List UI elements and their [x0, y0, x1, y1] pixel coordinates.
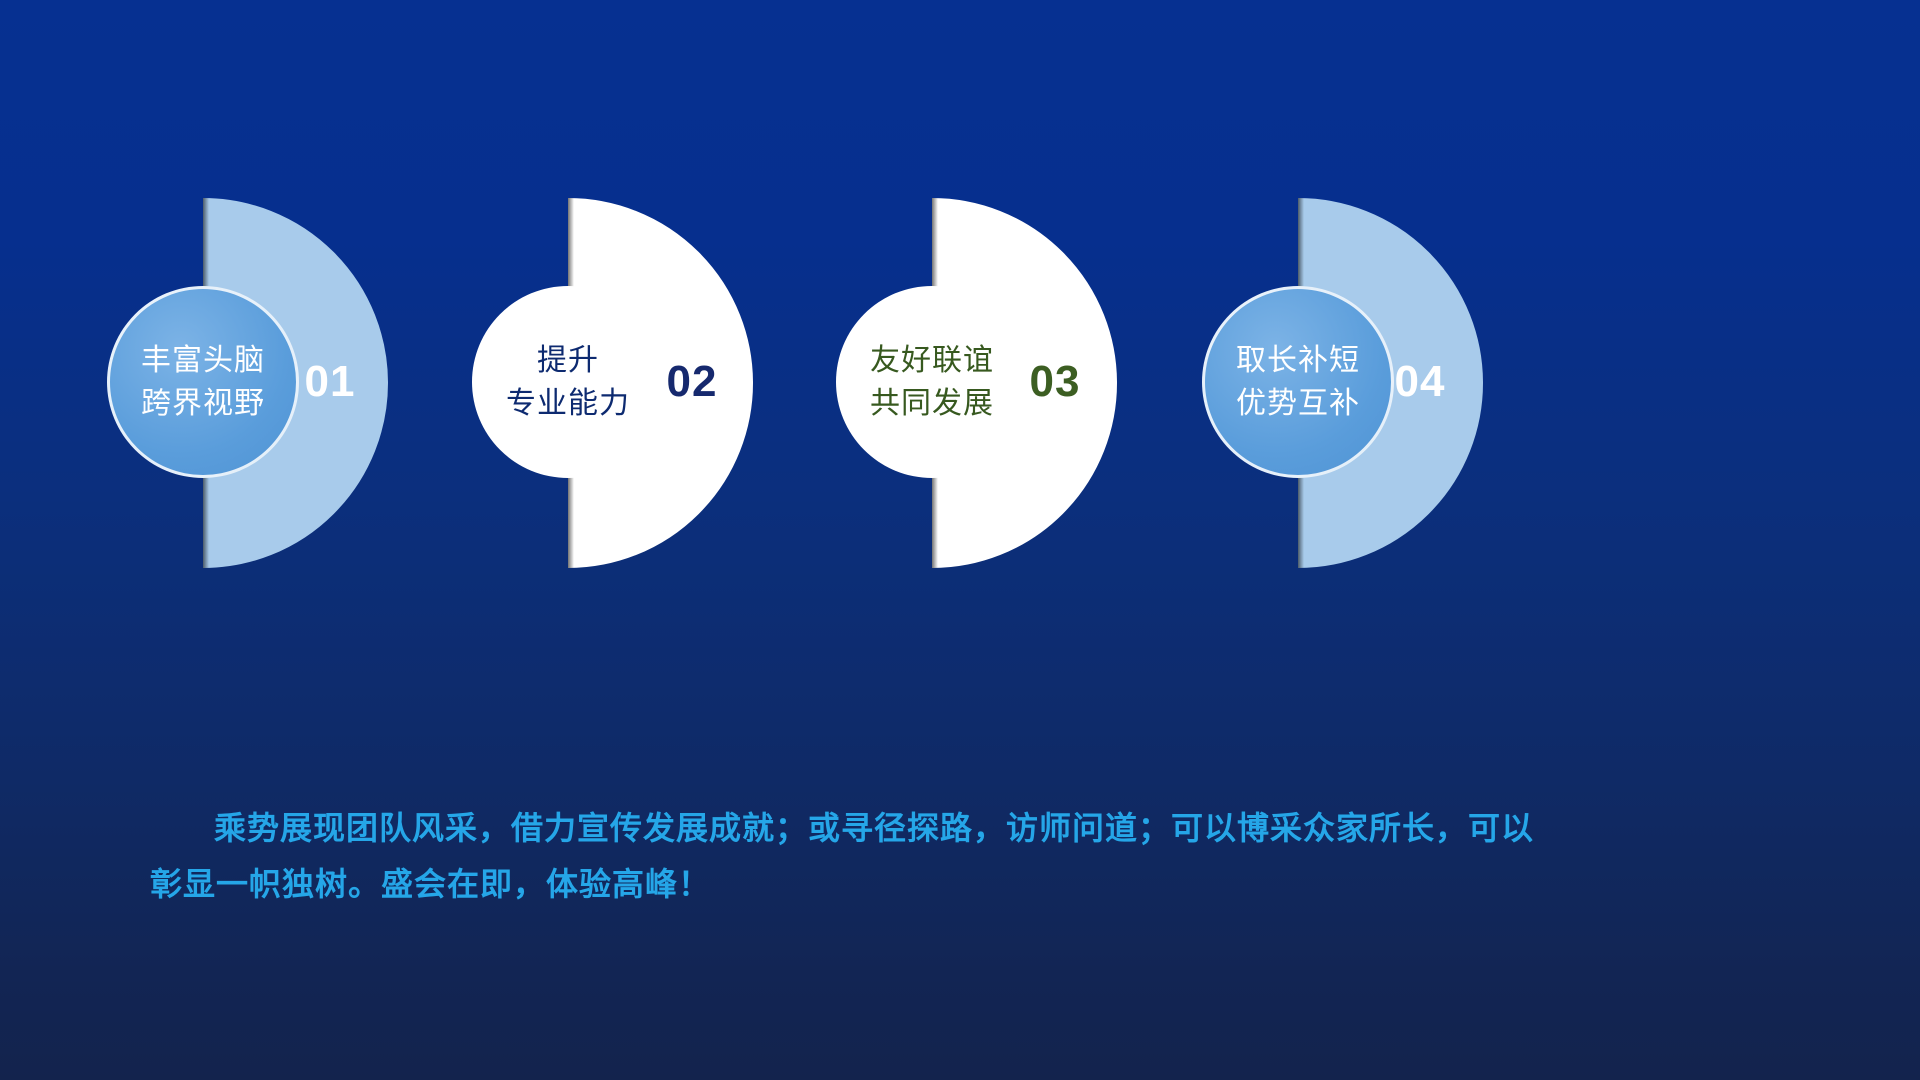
- step-number-04: 04: [1380, 360, 1460, 404]
- step-disc-01[interactable]: 丰富头脑 跨界视野: [107, 286, 299, 478]
- step-label-03: 友好联谊 共同发展: [870, 339, 994, 426]
- step-number-01: 01: [290, 360, 370, 404]
- step-label-04: 取长补短 优势互补: [1236, 339, 1360, 426]
- step-disc-03[interactable]: 友好联谊 共同发展: [836, 286, 1028, 478]
- step-disc-02[interactable]: 提升 专业能力: [472, 286, 664, 478]
- slide-canvas: 丰富头脑 跨界视野01提升 专业能力02友好联谊 共同发展03取长补短 优势互补…: [0, 0, 1920, 1080]
- step-disc-04[interactable]: 取长补短 优势互补: [1202, 286, 1394, 478]
- step-label-01: 丰富头脑 跨界视野: [141, 339, 265, 426]
- step-label-02: 提升 专业能力: [506, 339, 630, 426]
- step-number-03: 03: [1015, 360, 1095, 404]
- caption-paragraph: 乘势展现团队风采，借力宣传发展成就；或寻径探路，访师问道；可以博采众家所长，可以…: [150, 800, 1550, 912]
- step-number-02: 02: [652, 360, 732, 404]
